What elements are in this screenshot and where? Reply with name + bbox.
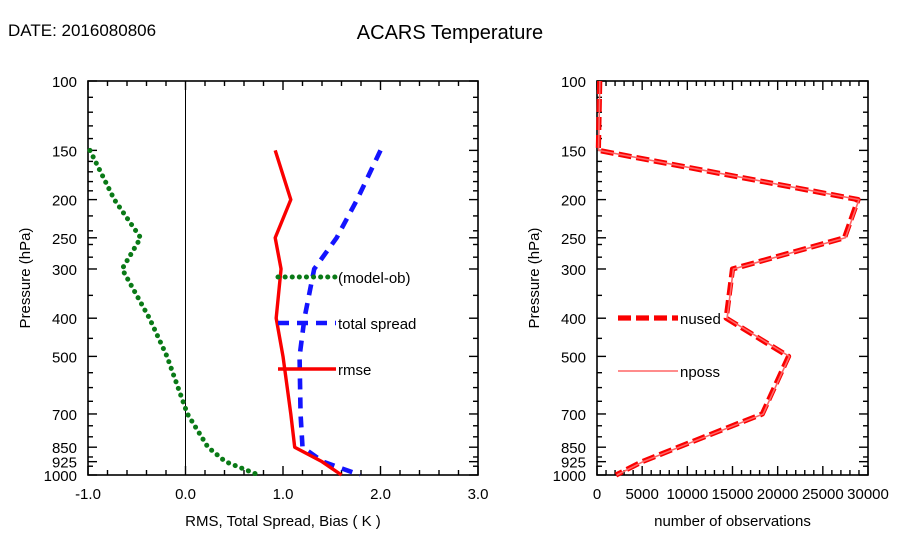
y-tick-label: 250 bbox=[52, 231, 77, 248]
legend-label: rmse bbox=[338, 362, 371, 379]
x-tick-label: -1.0 bbox=[75, 486, 101, 503]
y-tick-label: 500 bbox=[561, 349, 586, 366]
y-tick-label: 700 bbox=[52, 407, 77, 424]
y-tick-label: 100 bbox=[52, 74, 77, 91]
legend-label: nposs bbox=[680, 364, 720, 381]
left-panel: 1001502002503004005007008509251000-1.00.… bbox=[17, 74, 488, 530]
chart-page: DATE: 2016080806ACARS Temperature1001502… bbox=[0, 0, 900, 560]
y-tick-label: 150 bbox=[52, 143, 77, 160]
page-title: ACARS Temperature bbox=[357, 22, 543, 44]
x-tick-label: 0.0 bbox=[175, 486, 196, 503]
legend-label: (model-ob) bbox=[338, 270, 411, 287]
y-tick-label: 700 bbox=[561, 407, 586, 424]
x-tick-label: 20000 bbox=[757, 486, 799, 503]
y-axis-title: Pressure (hPa) bbox=[526, 228, 543, 329]
y-tick-label: 250 bbox=[561, 231, 586, 248]
y-tick-label: 300 bbox=[52, 262, 77, 279]
y-tick-label: 1000 bbox=[553, 468, 586, 485]
series-line-rmse bbox=[275, 150, 341, 475]
y-tick-label: 1000 bbox=[44, 468, 77, 485]
y-tick-label: 200 bbox=[52, 193, 77, 210]
x-tick-label: 1.0 bbox=[273, 486, 294, 503]
y-tick-label: 300 bbox=[561, 262, 586, 279]
x-axis-title: number of observations bbox=[654, 513, 811, 530]
y-tick-label: 400 bbox=[52, 311, 77, 328]
legend-label: total spread bbox=[338, 316, 416, 333]
x-tick-label: 25000 bbox=[802, 486, 844, 503]
y-tick-label: 400 bbox=[561, 311, 586, 328]
series-line-nposs bbox=[599, 81, 859, 475]
x-tick-label: 2.0 bbox=[370, 486, 391, 503]
y-tick-label: 500 bbox=[52, 349, 77, 366]
x-tick-label: 15000 bbox=[712, 486, 754, 503]
x-axis-title: RMS, Total Spread, Bias ( K ) bbox=[185, 513, 381, 530]
x-tick-label: 5000 bbox=[625, 486, 658, 503]
y-tick-label: 200 bbox=[561, 193, 586, 210]
series-line--model-ob- bbox=[90, 150, 259, 475]
legend-label: nused bbox=[680, 311, 721, 328]
legend: nusednposs bbox=[618, 311, 721, 381]
acars-temperature-figure: DATE: 2016080806ACARS Temperature1001502… bbox=[0, 0, 900, 560]
x-tick-label: 30000 bbox=[847, 486, 889, 503]
right-panel: 1001502002503004005007008509251000050001… bbox=[526, 74, 889, 530]
y-tick-label: 100 bbox=[561, 74, 586, 91]
x-tick-label: 0 bbox=[593, 486, 601, 503]
date-label: DATE: 2016080806 bbox=[8, 21, 156, 40]
y-axis-title: Pressure (hPa) bbox=[17, 228, 34, 329]
series-line-total-spread bbox=[300, 150, 381, 475]
y-tick-label: 150 bbox=[561, 143, 586, 160]
x-tick-label: 10000 bbox=[666, 486, 708, 503]
series-line-nused bbox=[598, 81, 858, 475]
x-tick-label: 3.0 bbox=[468, 486, 489, 503]
